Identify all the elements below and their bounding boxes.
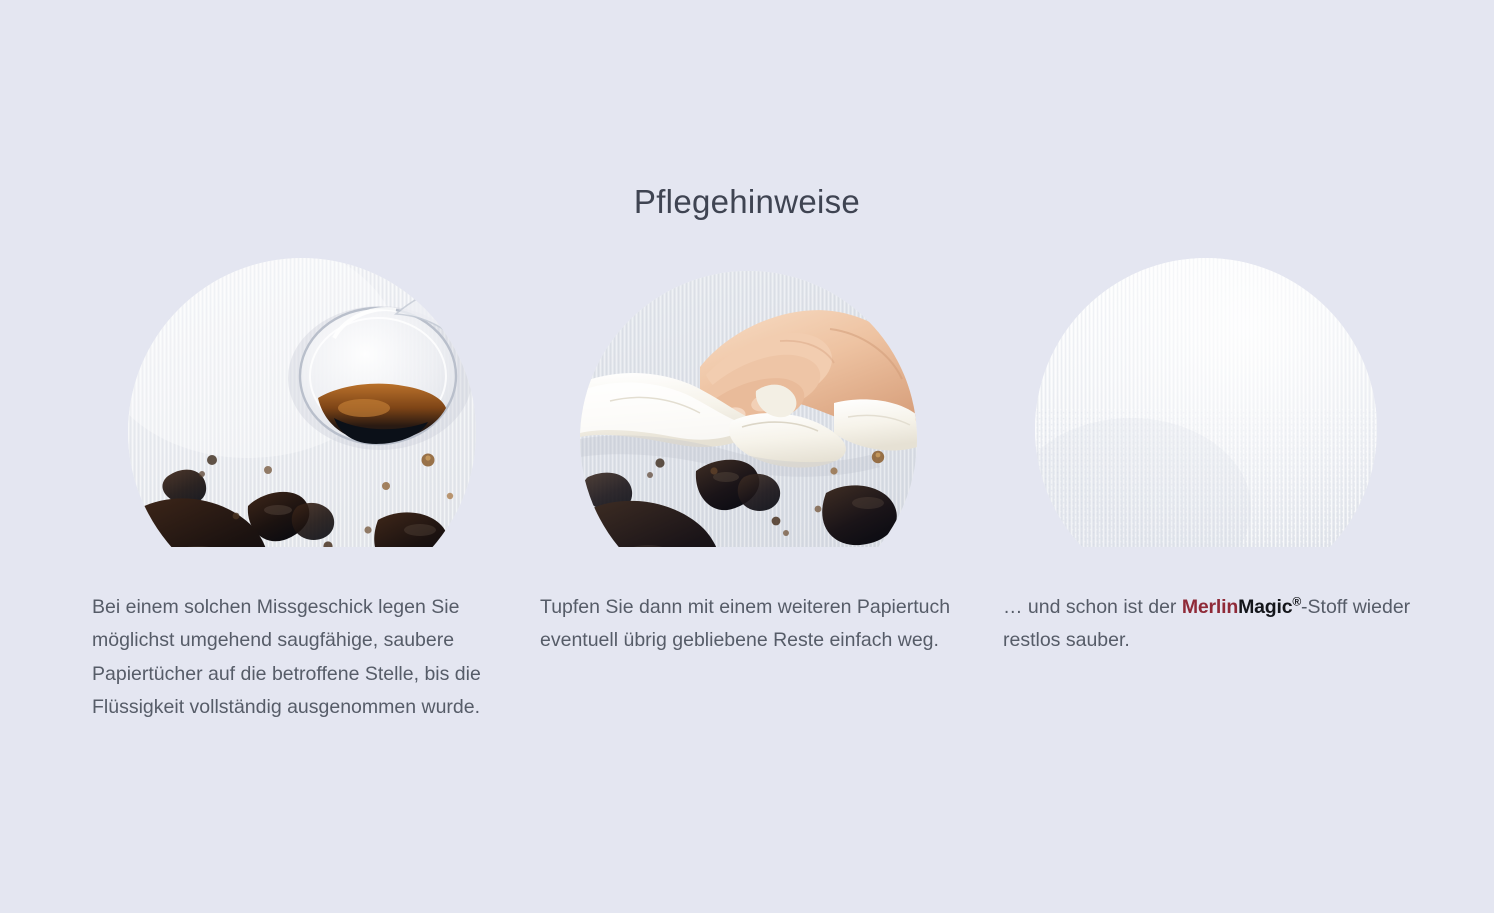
page-title: Pflegehinweise	[0, 182, 1494, 222]
brand-merlin-text: Merlin	[1182, 596, 1238, 618]
step-3-caption-before: … und schon ist der	[1003, 596, 1182, 618]
step-2-caption: Tupfen Sie dann mit einem weiteren Papie…	[540, 591, 952, 658]
clean-fabric-photo	[1035, 258, 1377, 547]
dabbing-photo	[580, 271, 917, 547]
step-1-photo-clip	[38, 255, 498, 547]
care-step-2: Tupfen Sie dann mit einem weiteren Papie…	[490, 255, 950, 815]
step-3-photo-clip	[945, 255, 1405, 547]
care-steps-row: Bei einem solchen Missgeschick legen Sie…	[0, 255, 1494, 815]
merlinmagic-brand: MerlinMagic®	[1182, 596, 1301, 618]
pflegehinweise-page: Pflegehinweise	[0, 0, 1494, 913]
step-3-caption: … und schon ist der MerlinMagic®-Stoff w…	[1003, 591, 1423, 658]
step-2-photo-clip	[490, 255, 950, 547]
spill-photo	[128, 258, 476, 547]
registered-trademark-icon: ®	[1292, 594, 1301, 608]
brand-magic-text: Magic	[1238, 596, 1292, 618]
step-1-caption: Bei einem solchen Missgeschick legen Sie…	[92, 591, 502, 725]
care-step-1: Bei einem solchen Missgeschick legen Sie…	[38, 255, 498, 815]
care-step-3: … und schon ist der MerlinMagic®-Stoff w…	[945, 255, 1405, 815]
